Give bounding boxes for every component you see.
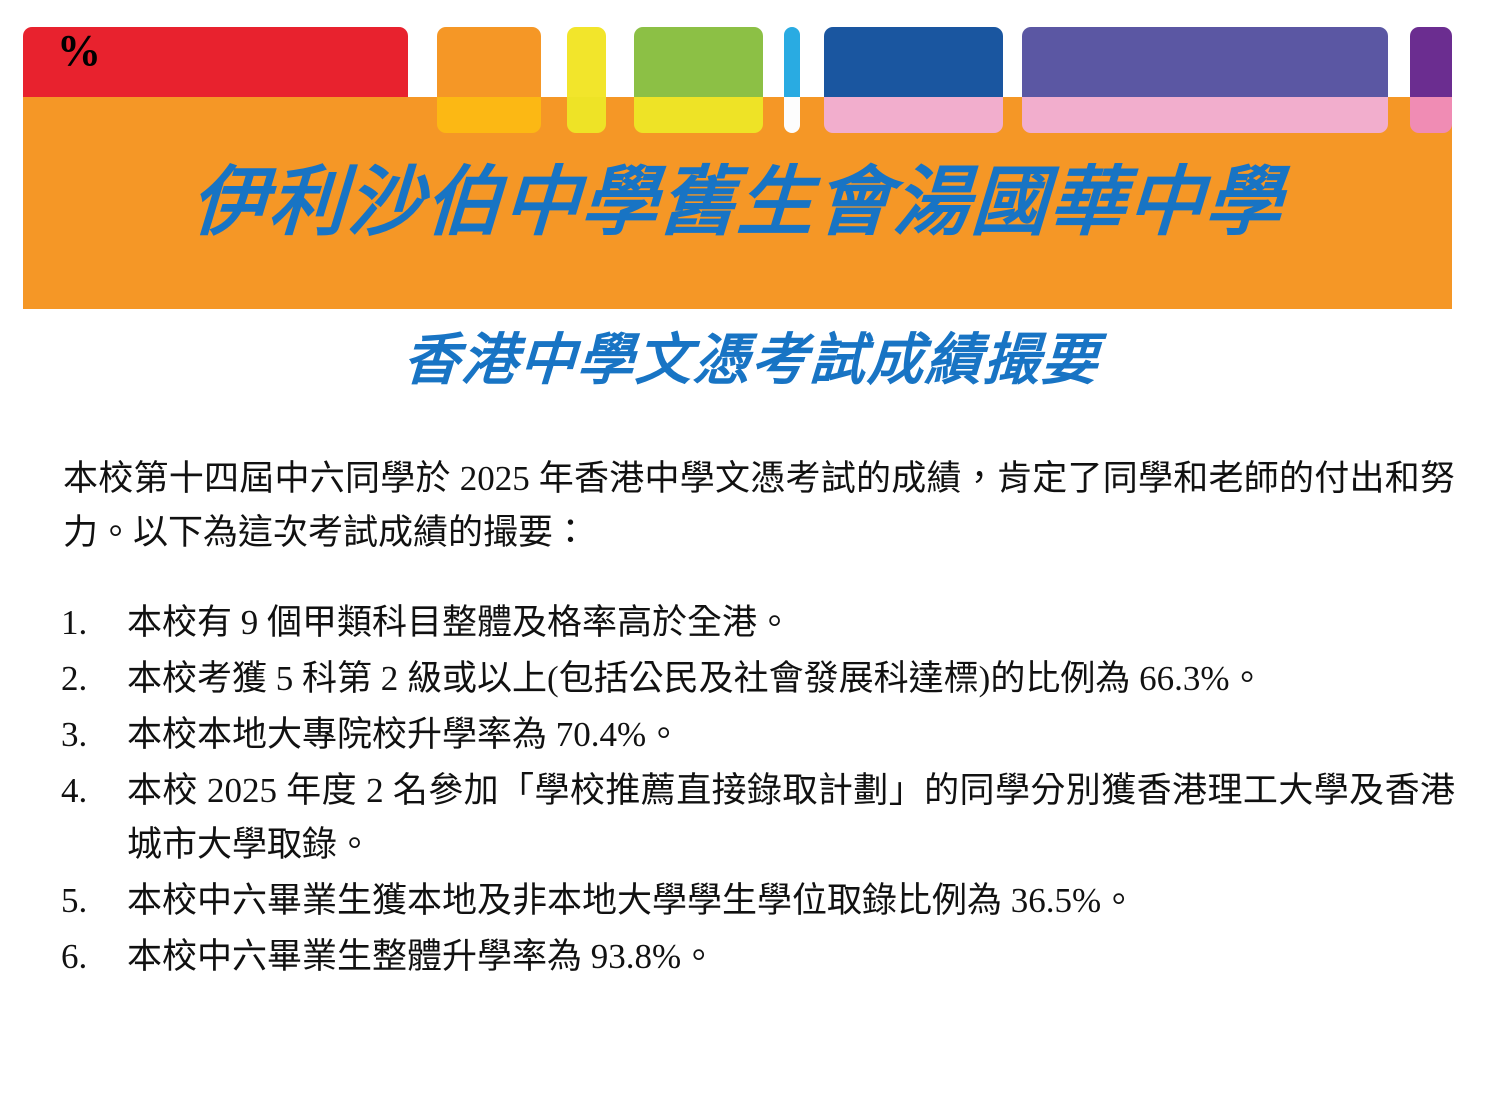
bar-cyan-lower (784, 97, 800, 133)
results-list-item: 1.本校有 9 個甲類科目整體及格率高於全港。 (55, 596, 1455, 650)
list-item-number: 5. (61, 874, 107, 928)
list-item-text: 本校中六畢業生整體升學率為 93.8%。 (127, 930, 1455, 984)
results-list-item: 4.本校 2025 年度 2 名參加「學校推薦直接錄取計劃」的同學分別獲香港理工… (55, 764, 1455, 872)
results-list: 1.本校有 9 個甲類科目整體及格率高於全港。2.本校考獲 5 科第 2 級或以… (55, 596, 1455, 984)
list-item-text: 本校中六畢業生獲本地及非本地大學學生學位取錄比例為 36.5%。 (127, 874, 1455, 928)
list-item-number: 1. (61, 596, 107, 650)
bar-darkpurple-lower (1410, 97, 1452, 133)
list-item-number: 6. (61, 930, 107, 984)
body-content: 本校第十四屆中六同學於 2025 年香港中學文憑考試的成績，肯定了同學和老師的付… (55, 452, 1455, 986)
header-banner: % 伊利沙伯中學舊生會湯國華中學 (0, 0, 1503, 312)
page-subtitle: 香港中學文憑考試成績撮要 (0, 324, 1503, 396)
bar-green-lower (634, 97, 763, 133)
results-list-item: 6.本校中六畢業生整體升學率為 93.8%。 (55, 930, 1455, 984)
bar-yellow-lower (567, 97, 606, 133)
list-item-text: 本校考獲 5 科第 2 級或以上(包括公民及社會發展科達標)的比例為 66.3%… (127, 652, 1455, 706)
school-name-title: 伊利沙伯中學舊生會湯國華中學 (20, 152, 1454, 252)
list-item-text: 本校 2025 年度 2 名參加「學校推薦直接錄取計劃」的同學分別獲香港理工大學… (127, 764, 1455, 872)
bar-orange-lower (437, 97, 541, 133)
list-item-text: 本校本地大專院校升學率為 70.4%。 (127, 708, 1455, 762)
intro-paragraph: 本校第十四屆中六同學於 2025 年香港中學文憑考試的成績，肯定了同學和老師的付… (55, 452, 1455, 560)
list-item-text: 本校有 9 個甲類科目整體及格率高於全港。 (127, 596, 1455, 650)
results-list-item: 5.本校中六畢業生獲本地及非本地大學學生學位取錄比例為 36.5%。 (55, 874, 1455, 928)
bar-blue-lower (824, 97, 1003, 133)
list-item-number: 4. (61, 764, 107, 818)
results-list-item: 2.本校考獲 5 科第 2 級或以上(包括公民及社會發展科達標)的比例為 66.… (55, 652, 1455, 706)
bar-violet-lower (1022, 97, 1388, 133)
list-item-number: 2. (61, 652, 107, 706)
percent-symbol: % (57, 29, 100, 73)
list-item-number: 3. (61, 708, 107, 762)
results-list-item: 3.本校本地大專院校升學率為 70.4%。 (55, 708, 1455, 762)
